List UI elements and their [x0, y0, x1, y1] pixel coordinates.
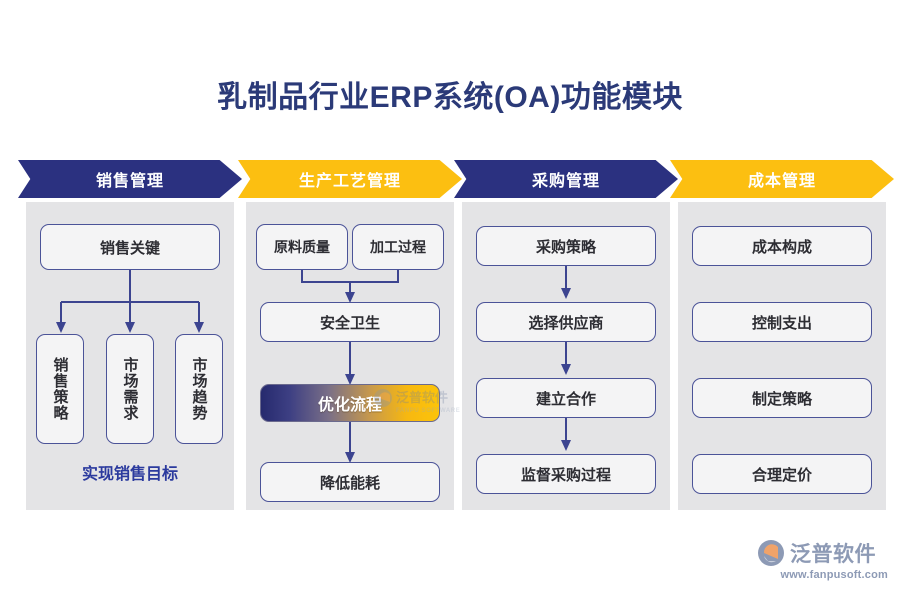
- node-market-demand[interactable]: 市场需求: [106, 334, 154, 444]
- column-sales: 销售管理 销售关键 销售策略 市场需求 市场趋势: [26, 160, 234, 510]
- node-reasonable-pricing[interactable]: 合理定价: [692, 454, 872, 494]
- node-supervise-purchasing[interactable]: 监督采购过程: [476, 454, 656, 494]
- node-select-supplier[interactable]: 选择供应商: [476, 302, 656, 342]
- node-sales-strategy[interactable]: 销售策略: [36, 334, 84, 444]
- column-body-purchasing: 采购策略 选择供应商 建立合作 监督采购过程: [462, 202, 670, 510]
- page-title: 乳制品行业ERP系统(OA)功能模块: [0, 72, 900, 116]
- column-header-sales[interactable]: 销售管理: [18, 160, 242, 198]
- node-processing[interactable]: 加工过程: [352, 224, 444, 270]
- node-reduce-energy[interactable]: 降低能耗: [260, 462, 440, 502]
- column-cost: 成本管理 成本构成 控制支出 制定策略 合理定价: [678, 160, 886, 510]
- node-control-expenditure[interactable]: 控制支出: [692, 302, 872, 342]
- node-optimize-process[interactable]: 优化流程: [260, 384, 440, 422]
- node-establish-cooperation[interactable]: 建立合作: [476, 378, 656, 418]
- column-body-sales: 销售关键 销售策略 市场需求 市场趋势 实现销售目标: [26, 202, 234, 510]
- node-market-trend[interactable]: 市场趋势: [175, 334, 223, 444]
- node-raw-material-quality[interactable]: 原料质量: [256, 224, 348, 270]
- column-body-production: 原料质量 加工过程 安全卫生 优化流程 降低能耗: [246, 202, 454, 510]
- column-header-purchasing[interactable]: 采购管理: [454, 160, 678, 198]
- column-footer-sales: 实现销售目标: [26, 460, 234, 484]
- column-purchasing: 采购管理 采购策略 选择供应商 建立合作 监督采购过程: [462, 160, 670, 510]
- fanpu-logo-icon: [756, 538, 786, 568]
- brand-logo: 泛普软件 www.fanpusoft.com: [756, 538, 888, 584]
- node-cost-composition[interactable]: 成本构成: [692, 226, 872, 266]
- node-purchase-strategy[interactable]: 采购策略: [476, 226, 656, 266]
- diagram-canvas: 乳制品行业ERP系统(OA)功能模块 销售管理 销售关键 销售: [0, 0, 900, 600]
- column-header-cost[interactable]: 成本管理: [670, 160, 894, 198]
- brand-url: www.fanpusoft.com: [756, 569, 888, 581]
- column-production: 生产工艺管理 原料质量 加工过程 安全卫生 优化流程 降低能耗: [246, 160, 454, 510]
- column-header-production[interactable]: 生产工艺管理: [238, 160, 462, 198]
- column-body-cost: 成本构成 控制支出 制定策略 合理定价: [678, 202, 886, 510]
- node-safety-hygiene[interactable]: 安全卫生: [260, 302, 440, 342]
- node-formulate-strategy[interactable]: 制定策略: [692, 378, 872, 418]
- brand-name: 泛普软件: [790, 538, 876, 568]
- node-sales-key[interactable]: 销售关键: [40, 224, 220, 270]
